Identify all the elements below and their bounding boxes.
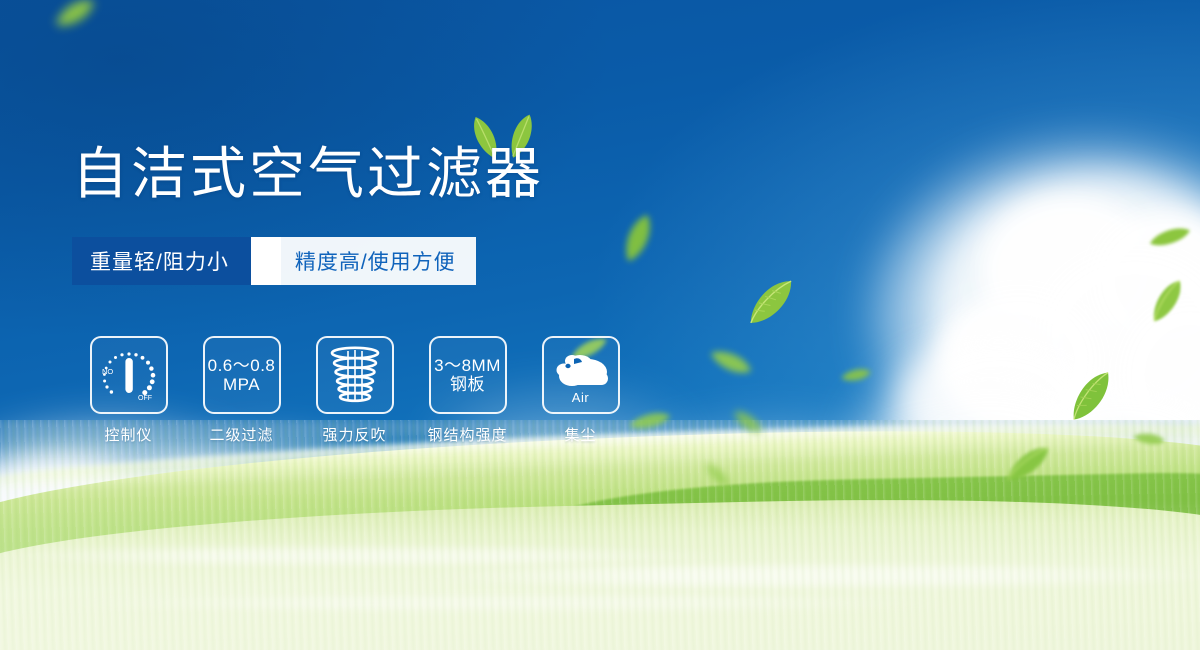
gauge-dial-icon: NO OFF xyxy=(96,344,162,406)
feature-item-dust-collection[interactable]: Air 集尘 xyxy=(524,336,637,445)
pressure-unit: MPA xyxy=(208,375,276,394)
feature-label: 二级过滤 xyxy=(209,424,273,445)
cloud-air-icon xyxy=(550,346,612,392)
steel-thickness: 3～8MM xyxy=(434,356,501,375)
feature-item-control-gauge[interactable]: NO OFF 控制仪 xyxy=(72,336,185,445)
banner-content: 自洁式空气过滤器 重量轻/阻力小 精度高/使用方便 xyxy=(0,0,1200,650)
pressure-range: 0.6～0.8 xyxy=(208,356,276,375)
subtitle-slash-divider xyxy=(251,237,281,285)
feature-item-strong-blowback[interactable]: 强力反吹 xyxy=(298,336,411,445)
feature-item-steel-strength[interactable]: 3～8MM 钢板 钢结构强度 xyxy=(411,336,524,445)
feature-label: 集尘 xyxy=(564,424,596,445)
subtitle-bar: 重量轻/阻力小 精度高/使用方便 xyxy=(72,237,476,285)
gauge-on-label: NO xyxy=(102,367,113,376)
subtitle-right: 精度高/使用方便 xyxy=(281,237,476,285)
steel-material: 钢板 xyxy=(434,375,501,394)
feature-item-two-stage-filter[interactable]: 0.6～0.8 MPA 二级过滤 xyxy=(185,336,298,445)
steel-plate-icon: 3～8MM 钢板 xyxy=(434,356,501,394)
page-title: 自洁式空气过滤器 xyxy=(72,146,544,202)
subtitle-left: 重量轻/阻力小 xyxy=(72,237,251,285)
feature-label: 控制仪 xyxy=(104,424,152,445)
feature-icon-box: 0.6～0.8 MPA xyxy=(203,336,281,414)
feature-icon-box: Air xyxy=(542,336,620,414)
filter-coil-icon xyxy=(325,344,385,406)
air-text: Air xyxy=(544,390,618,405)
feature-list: NO OFF 控制仪 0.6～0.8 MPA 二级过滤 xyxy=(72,336,637,445)
feature-icon-box xyxy=(316,336,394,414)
gauge-off-label: OFF xyxy=(138,395,152,402)
feature-icon-box: NO OFF xyxy=(90,336,168,414)
feature-label: 强力反吹 xyxy=(322,424,386,445)
pressure-value-icon: 0.6～0.8 MPA xyxy=(208,356,276,394)
feature-label: 钢结构强度 xyxy=(427,424,507,445)
feature-icon-box: 3～8MM 钢板 xyxy=(429,336,507,414)
promo-banner: 自洁式空气过滤器 重量轻/阻力小 精度高/使用方便 xyxy=(0,0,1200,650)
